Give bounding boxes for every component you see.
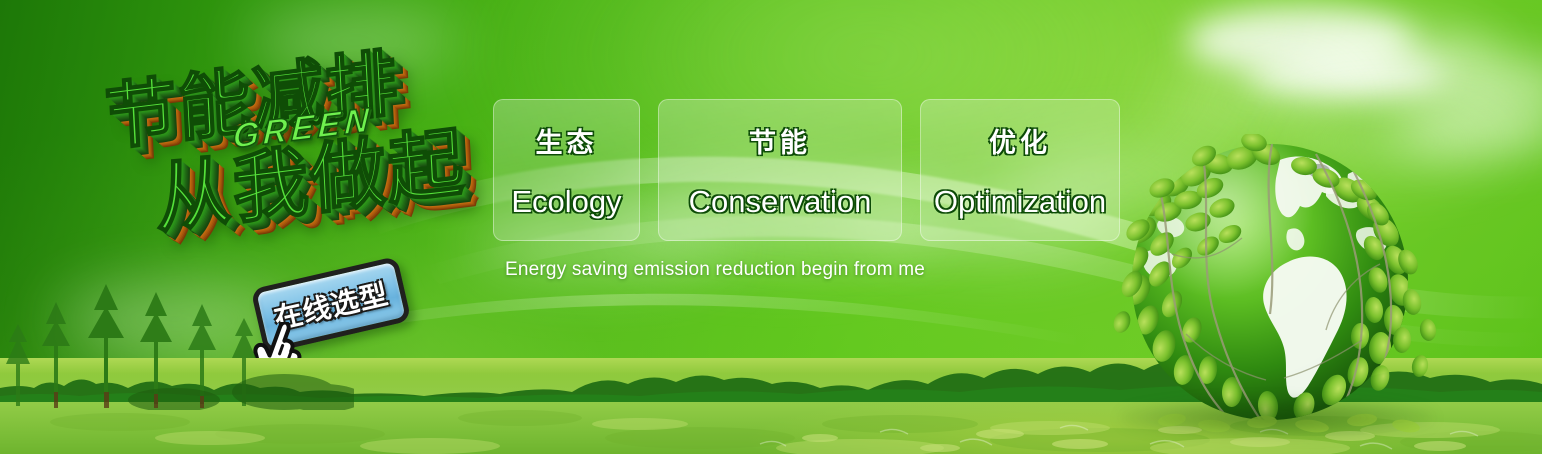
- feature-card-conservation[interactable]: 节能 Conservation: [658, 99, 902, 241]
- green-leafy-globe-icon: [1112, 134, 1442, 434]
- feature-card-optimization[interactable]: 优化 Optimization: [920, 99, 1120, 241]
- feature-card-cn-label: 优化: [989, 121, 1051, 160]
- green-promo-banner: 节能减排 GREEN 从我做起 生态 Ecology 节能 Conservati…: [0, 0, 1542, 454]
- tagline: Energy saving emission reduction begin f…: [505, 259, 925, 281]
- feature-card-cn-label: 生态: [536, 121, 598, 160]
- feature-card-ecology[interactable]: 生态 Ecology: [493, 99, 640, 241]
- feature-cards: 生态 Ecology 节能 Conservation 优化 Optimizati…: [493, 99, 1120, 241]
- pine-trees-icon: [0, 280, 354, 410]
- feature-card-cn-label: 节能: [749, 121, 811, 160]
- headline-3d-art: 节能减排 GREEN 从我做起: [90, 11, 508, 307]
- feature-card-en-label: Ecology: [511, 184, 621, 220]
- feature-card-en-label: Optimization: [934, 184, 1106, 220]
- feature-card-en-label: Conservation: [689, 184, 872, 220]
